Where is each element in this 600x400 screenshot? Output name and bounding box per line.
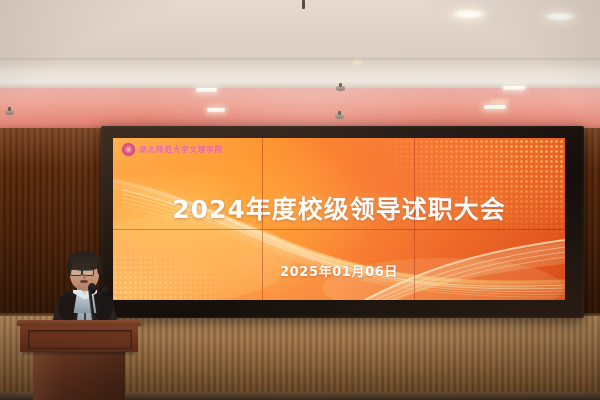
speaker-mouth [80, 280, 88, 283]
ceiling-reflection [352, 60, 362, 65]
speaker-hood-left [58, 294, 76, 320]
wall-glow-sheen [0, 88, 600, 130]
strip-light-icon [196, 88, 217, 92]
slide-date: 2025年01月06日 [113, 261, 565, 280]
led-tile-seam-vertical [262, 138, 263, 300]
conference-hall-photo: 湖北师范大学文理学院 2024年度校级领导述职大会 2025年01月06日 [0, 0, 600, 400]
downlight-icon [545, 12, 575, 21]
strip-light-icon [503, 86, 525, 90]
downlight-icon [452, 9, 486, 19]
speaker-nose [83, 274, 86, 279]
slide-logo-text: 湖北师范大学文理学院 [139, 144, 223, 155]
podium-top-surface [17, 320, 141, 326]
podium-inset-panel [28, 330, 132, 349]
ceiling-reflection [490, 98, 510, 105]
slide-logo: 湖北师范大学文理学院 [122, 143, 223, 156]
strip-light-icon [207, 108, 225, 112]
strip-light-icon [484, 105, 506, 109]
led-tile-seam-vertical [414, 138, 415, 300]
glasses-icon [70, 269, 82, 276]
podium [17, 320, 141, 400]
sprinkler-icon [5, 110, 14, 115]
video-wall-screen[interactable]: 湖北师范大学文理学院 2024年度校级领导述职大会 2025年01月06日 [113, 138, 565, 300]
university-seal-icon [122, 143, 135, 156]
slide-title: 2024年度校级领导述职大会 [113, 190, 565, 226]
podium-body [33, 352, 125, 400]
sprinkler-icon [335, 114, 344, 119]
led-tile-seam-horizontal [113, 229, 565, 230]
ceiling-hanger-rod [302, 0, 305, 9]
sprinkler-icon [336, 86, 345, 91]
